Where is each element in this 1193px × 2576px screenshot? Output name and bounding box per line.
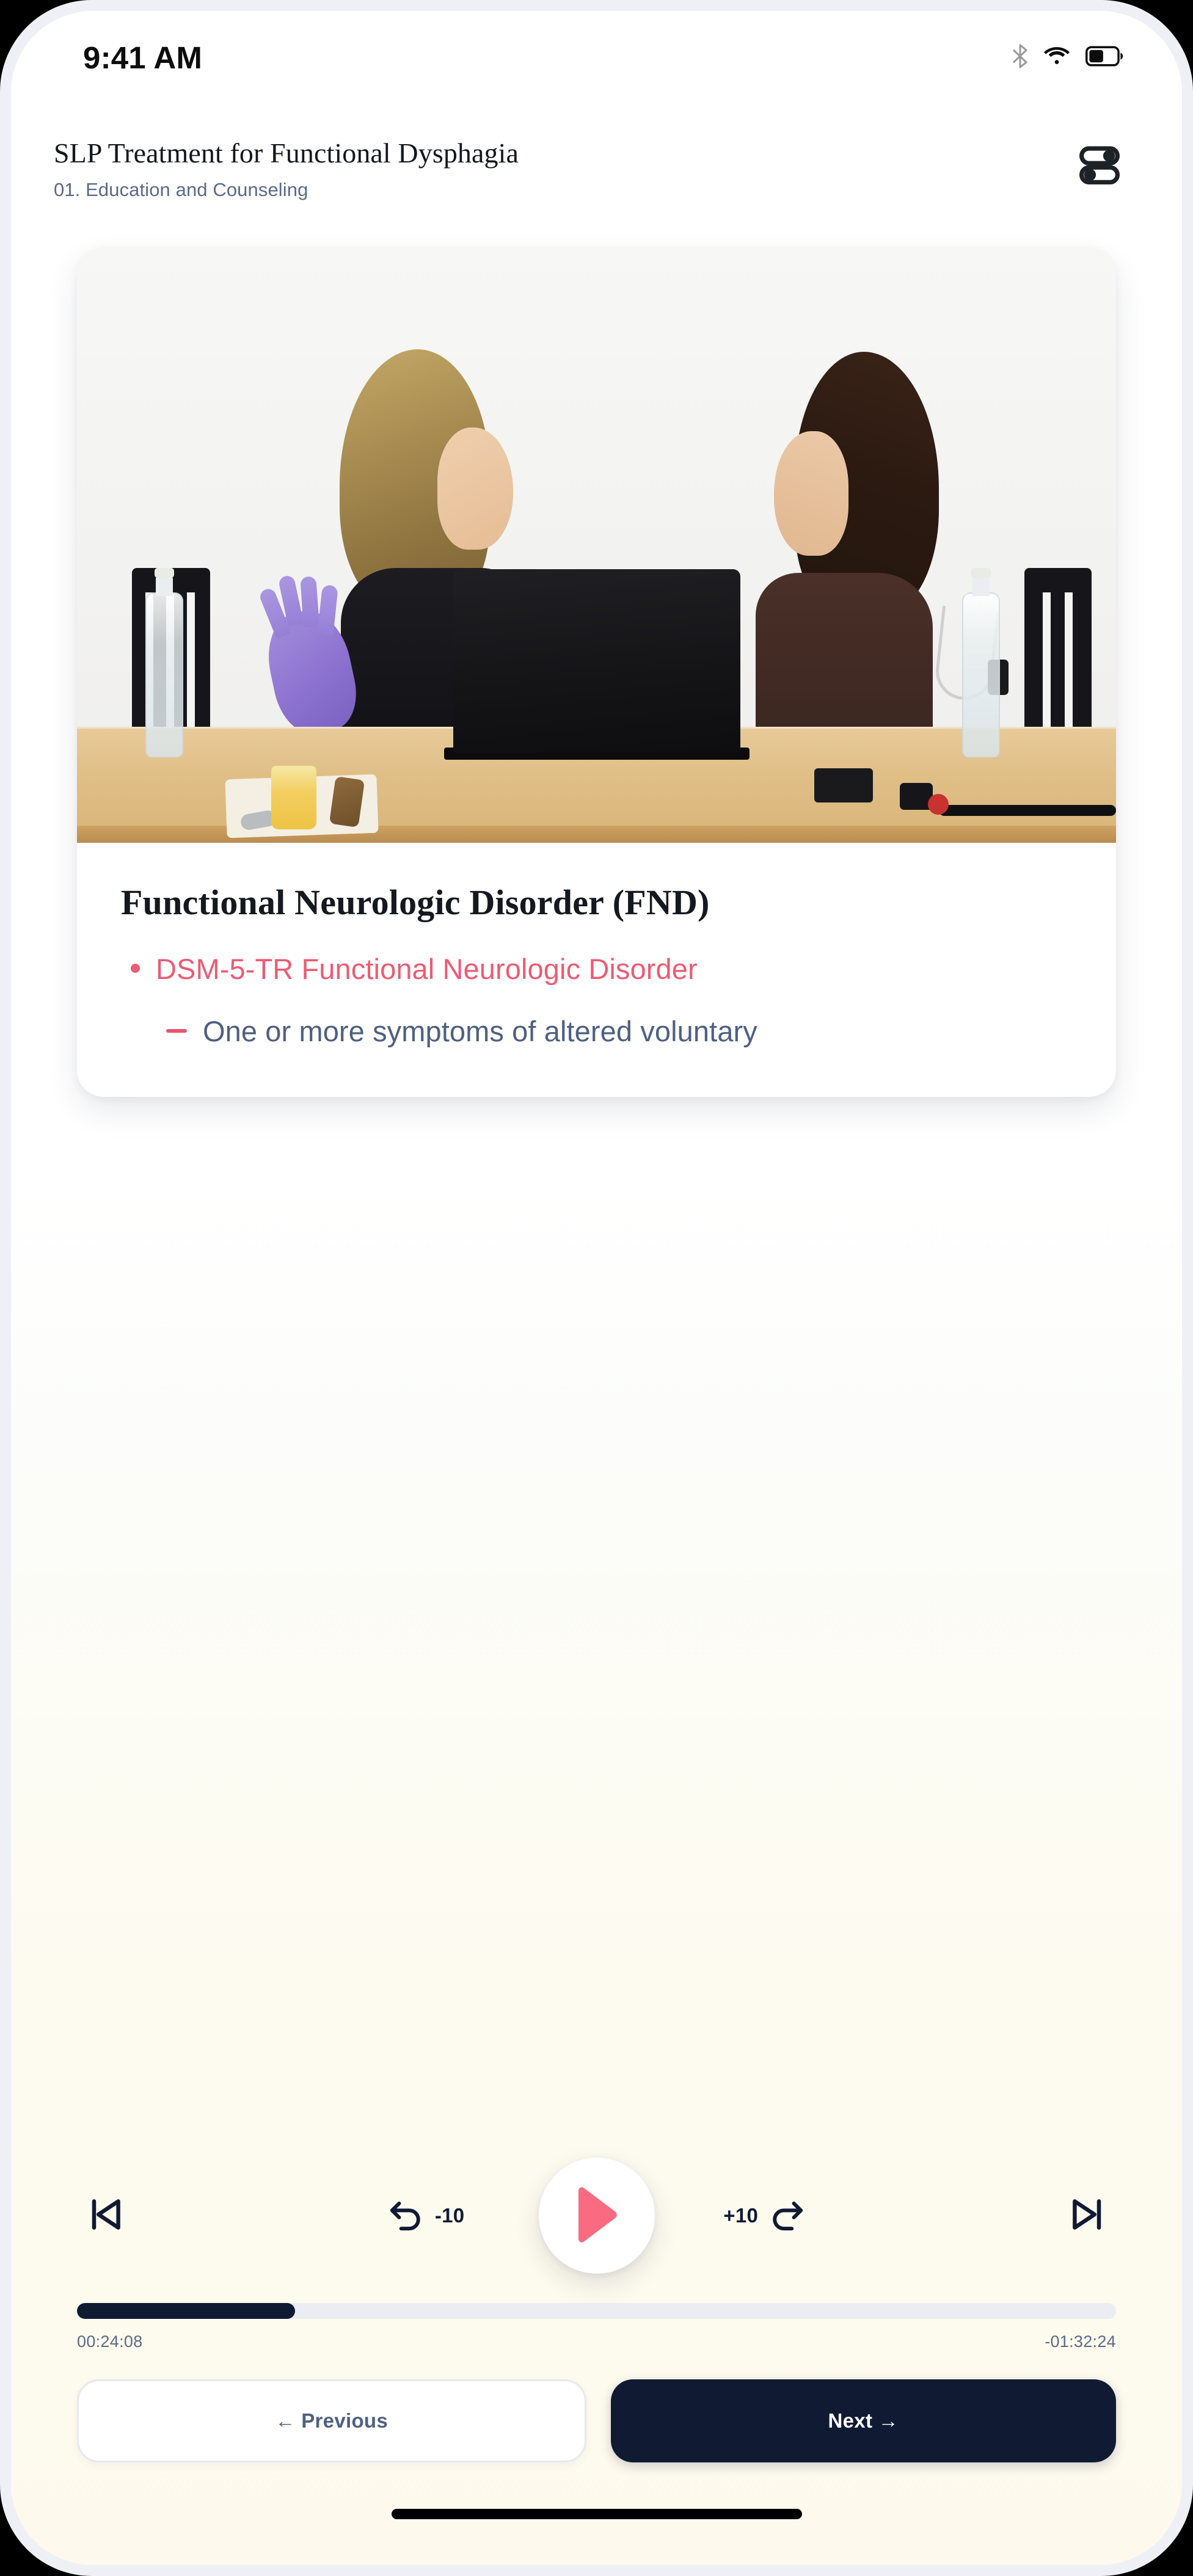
play-icon [571, 2186, 622, 2246]
bluetooth-icon [1012, 43, 1028, 72]
transport-controls: -10 +10 [77, 2139, 1116, 2292]
slide-bullet-level2: One or more symptoms of altered voluntar… [121, 1014, 1072, 1049]
home-indicator[interactable] [392, 2509, 802, 2519]
rewind-arrow-icon [386, 2194, 426, 2238]
next-button[interactable]: Next → [611, 2379, 1117, 2462]
remaining-time: -01:32:24 [1045, 2332, 1116, 2351]
water-bottle-left [145, 592, 183, 757]
home-indicator-area [11, 2462, 1182, 2565]
bullet-dot-icon [131, 964, 140, 973]
sliders-icon [1076, 141, 1123, 191]
phone-screen: 9:41 AM [11, 11, 1182, 2565]
play-button[interactable] [539, 2158, 655, 2274]
forward-10-button[interactable]: +10 [723, 2194, 807, 2238]
rewind-10-button[interactable]: -10 [386, 2194, 465, 2238]
laptop [453, 569, 740, 752]
page-header: SLP Treatment for Functional Dysphagia 0… [11, 104, 1182, 225]
previous-button[interactable]: ← Previous [77, 2379, 586, 2462]
water-bottle-right [962, 592, 1000, 757]
slide-bullet-level1: DSM-5-TR Functional Neurologic Disorder [121, 951, 1072, 987]
settings-button[interactable] [1066, 132, 1133, 199]
header-text-group: SLP Treatment for Functional Dysphagia 0… [54, 134, 519, 201]
wifi-icon [1044, 46, 1070, 70]
slide-text-content: Functional Neurologic Disorder (FND) DSM… [77, 843, 1116, 1097]
progress-bar[interactable]: 00:24:08 -01:32:24 [77, 2303, 1116, 2351]
lesson-navigation: ← Previous Next → [77, 2379, 1116, 2462]
juice-cup [271, 766, 316, 829]
lesson-photo [77, 247, 1116, 843]
forward-arrow-icon [767, 2194, 807, 2238]
slide-heading: Functional Neurologic Disorder (FND) [121, 882, 1072, 923]
chair-right [1024, 568, 1092, 751]
battery-icon [1085, 46, 1123, 70]
status-bar: 9:41 AM [11, 11, 1182, 104]
status-bar-time: 9:41 AM [83, 40, 202, 76]
slide-bullet-level2-text: One or more symptoms of altered voluntar… [203, 1014, 757, 1049]
progress-fill [77, 2303, 295, 2319]
bullet-dash-icon [166, 1029, 187, 1033]
skip-previous-button[interactable] [83, 2192, 127, 2239]
audio-player: -10 +10 [11, 2139, 1182, 2462]
cable-wire [939, 805, 1116, 816]
page-subtitle: 01. Education and Counseling [54, 178, 519, 201]
status-bar-icons [1012, 43, 1123, 72]
phone-frame: 9:41 AM [0, 0, 1193, 2576]
forward-10-label: +10 [723, 2204, 758, 2227]
skip-next-icon [1066, 2192, 1110, 2239]
page-title: SLP Treatment for Functional Dysphagia [54, 137, 519, 170]
slide-card[interactable]: Functional Neurologic Disorder (FND) DSM… [77, 247, 1116, 1097]
slide-bullet-level1-text: DSM-5-TR Functional Neurologic Disorder [156, 951, 698, 987]
elapsed-time: 00:24:08 [77, 2332, 143, 2351]
rewind-10-label: -10 [435, 2204, 465, 2227]
time-row: 00:24:08 -01:32:24 [77, 2332, 1116, 2351]
skip-next-button[interactable] [1066, 2192, 1110, 2239]
cable-adapter [814, 768, 873, 802]
skip-previous-icon [83, 2192, 127, 2239]
content-spacer [11, 1097, 1182, 2139]
progress-track[interactable] [77, 2303, 1116, 2319]
